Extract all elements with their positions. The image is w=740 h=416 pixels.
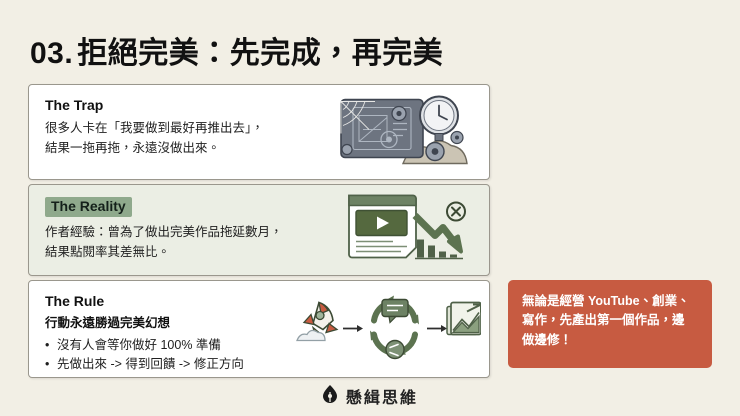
card-stack: The Trap 很多人卡在「我要做到最好再推出去」， 結果一拖再拖，永遠沒做出… <box>28 84 490 378</box>
card-the-reality-body-line-1: 作者經驗：曾為了做出完美作品拖延數月， <box>45 225 283 239</box>
card-the-trap: The Trap 很多人卡在「我要做到最好再推出去」， 結果一拖再拖，永遠沒做出… <box>28 84 490 180</box>
blueprint-cobweb-clock-gears-icon <box>331 90 481 175</box>
page-title-number: 03. <box>30 37 73 71</box>
list-item: 先做出來 -> 得到回饋 -> 修正方向 <box>45 355 319 374</box>
footer-brand: 懸緝思維 <box>0 384 740 408</box>
page-title-text: 拒絕完美：先完成，再完美 <box>77 28 443 72</box>
card-the-reality-body-line-2: 結果點閱率其差無比。 <box>45 245 170 259</box>
pen-nib-icon <box>322 385 338 408</box>
card-the-rule-heading: The Rule <box>45 294 104 309</box>
card-the-rule-bullets: 沒有人會等你做好 100% 準備 先做出來 -> 得到回饋 -> 修正方向 <box>45 336 319 374</box>
callout-line-3: 做邊修！ <box>522 333 572 347</box>
card-the-trap-body-line-2: 結果一拖再拖，永遠沒做出來。 <box>45 141 220 155</box>
rocket-feedback-loop-growth-chart-icon <box>291 291 481 368</box>
slide-root: 03. 拒絕完美：先完成，再完美 The Trap 很多人卡在「我要做到最好再推… <box>0 0 740 416</box>
callout-line-2: 寫作，先產出第一個作品，邊 <box>522 313 685 327</box>
card-the-rule: The Rule 行動永遠勝過完美幻想 沒有人會等你做好 100% 準備 先做出… <box>28 280 490 378</box>
card-the-reality-heading: The Reality <box>45 197 132 217</box>
brand-name: 懸緝思維 <box>346 384 418 408</box>
callout-box: 無論是經營 YouTube、創業、 寫作，先產出第一個作品，邊 做邊修！ <box>508 280 712 368</box>
callout-line-1: 無論是經營 YouTube、創業、 <box>522 294 690 308</box>
card-the-rule-subtitle: 行動永遠勝過完美幻想 <box>45 315 319 333</box>
card-the-trap-text: The Trap 很多人卡在「我要做到最好再推出去」， 結果一拖再拖，永遠沒做出… <box>45 97 319 158</box>
card-the-reality: The Reality 作者經驗：曾為了做出完美作品拖延數月， 結果點閱率其差無… <box>28 184 490 276</box>
card-the-trap-body: 很多人卡在「我要做到最好再推出去」， 結果一拖再拖，永遠沒做出來。 <box>45 119 319 158</box>
page-title: 03. 拒絕完美：先完成，再完美 <box>30 28 443 72</box>
list-item: 沒有人會等你做好 100% 準備 <box>45 336 319 355</box>
card-the-reality-text: The Reality 作者經驗：曾為了做出完美作品拖延數月， 結果點閱率其差無… <box>45 197 319 262</box>
video-page-declining-arrow-bar-chart-icon <box>331 190 481 271</box>
card-the-trap-body-line-1: 很多人卡在「我要做到最好再推出去」， <box>45 121 264 135</box>
card-the-rule-text: The Rule 行動永遠勝過完美幻想 沒有人會等你做好 100% 準備 先做出… <box>45 293 319 373</box>
card-the-trap-heading: The Trap <box>45 98 103 113</box>
card-the-reality-body: 作者經驗：曾為了做出完美作品拖延數月， 結果點閱率其差無比。 <box>45 223 319 262</box>
